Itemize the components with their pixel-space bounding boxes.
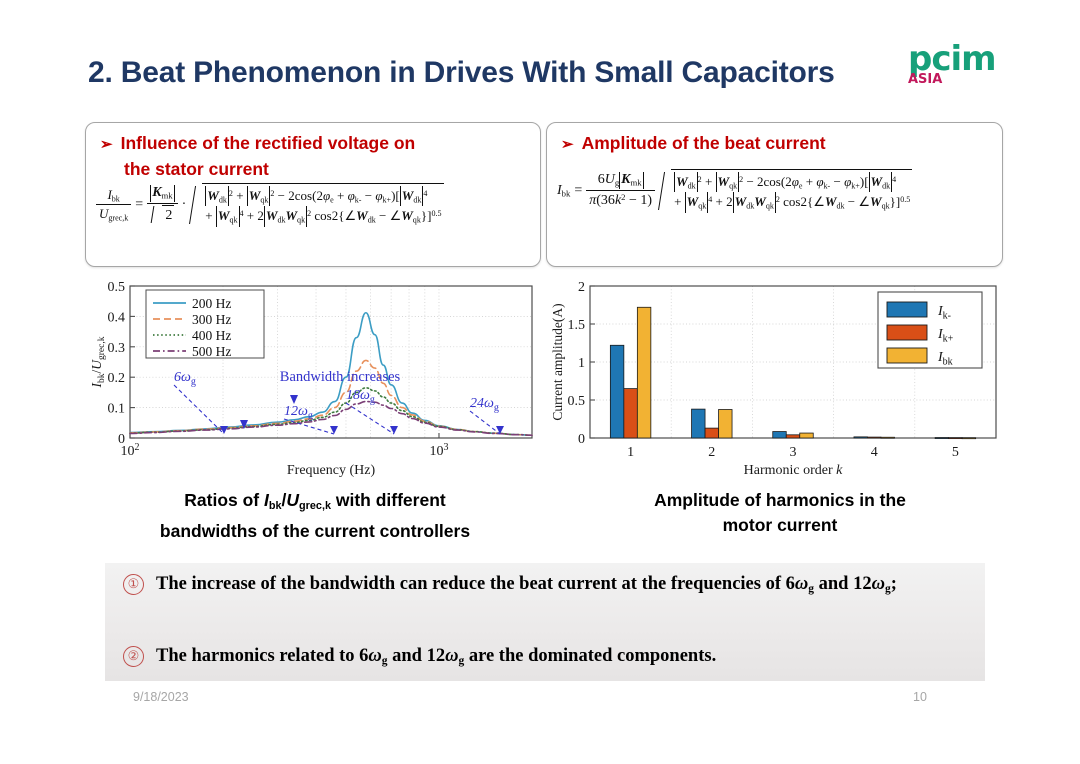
svg-text:1: 1 [627, 445, 634, 460]
svg-text:200 Hz: 200 Hz [192, 296, 231, 311]
logo-sub-text: ASIA [908, 72, 942, 87]
conclusion-item-2: ②The harmonics related to 6ωg and 12ωg a… [123, 641, 971, 676]
footer-page-number: 10 [913, 690, 927, 704]
chart-ratio-vs-frequency: 00.10.20.30.40.5102103Frequency (Hz)Ibk/… [88, 276, 538, 481]
svg-text:500 Hz: 500 Hz [192, 344, 231, 359]
title-row: 2. Beat Phenomenon in Drives With Small … [88, 52, 1008, 100]
svg-text:Harmonic order k: Harmonic order k [744, 463, 844, 478]
bar-chart-svg: 1234500.511.52Harmonic order kCurrent am… [548, 276, 1003, 481]
conclusion-item-1: ①The increase of the bandwidth can reduc… [123, 569, 971, 604]
arrow-bullet-icon: ➢ [561, 136, 574, 153]
formula-box-right-heading: ➢Amplitude of the beat current [561, 131, 994, 157]
svg-text:0.4: 0.4 [108, 310, 126, 325]
svg-text:Current amplitude(A): Current amplitude(A) [550, 303, 565, 420]
list-number-2: ② [123, 646, 144, 667]
svg-text:3: 3 [790, 445, 797, 460]
caption-left-line2: bandwidths of the current controllers [160, 521, 470, 541]
svg-text:18ωg: 18ωg [346, 388, 375, 406]
formula-left: Ibk Ugrec,k = Kmk 2 · Wdk2 + Wqk2 − 2cos… [96, 183, 534, 227]
conclusion-1-text: The increase of the bandwidth can reduce… [156, 574, 897, 594]
svg-text:0.5: 0.5 [568, 394, 586, 409]
svg-text:1.5: 1.5 [568, 318, 586, 333]
svg-text:2: 2 [578, 280, 585, 295]
pcim-asia-logo: pcim ASIA [896, 42, 1006, 98]
chart-harmonic-amplitudes: 1234500.511.52Harmonic order kCurrent am… [548, 276, 1003, 481]
formula-box-right: ➢Amplitude of the beat current Ibk = 6Ug… [546, 122, 1003, 267]
caption-right-line2: motor current [723, 515, 838, 535]
footer-date: 9/18/2023 [133, 690, 189, 704]
svg-text:Bandwidth increases: Bandwidth increases [280, 369, 401, 385]
svg-text:300 Hz: 300 Hz [192, 312, 231, 327]
svg-text:400 Hz: 400 Hz [192, 328, 231, 343]
svg-text:2: 2 [708, 445, 715, 460]
svg-text:Frequency (Hz): Frequency (Hz) [287, 463, 376, 478]
heading-line-2: the stator current [100, 159, 269, 179]
svg-text:24ωg: 24ωg [470, 396, 499, 414]
svg-text:102: 102 [121, 442, 140, 459]
svg-text:1: 1 [578, 356, 585, 371]
svg-text:0.2: 0.2 [108, 371, 126, 386]
svg-text:4: 4 [871, 445, 878, 460]
svg-text:Ibk/Ugrec,k: Ibk/Ugrec,k [89, 336, 107, 388]
caption-left-line1: Ratios of Ibk/Ugrec,k with different [184, 490, 445, 510]
slide-root: 2. Beat Phenomenon in Drives With Small … [0, 0, 1080, 764]
arrow-bullet-icon: ➢ [100, 136, 113, 153]
caption-right-chart: Amplitude of harmonics in the motor curr… [560, 488, 1000, 538]
formula-box-left: ➢Influence of the rectified voltage on t… [85, 122, 541, 267]
svg-text:0.3: 0.3 [108, 341, 126, 356]
conclusions-box: ①The increase of the bandwidth can reduc… [105, 563, 985, 681]
conclusion-2-text: The harmonics related to 6ωg and 12ωg ar… [156, 646, 716, 666]
svg-text:0: 0 [578, 432, 585, 447]
formula-box-left-heading: ➢Influence of the rectified voltage on t… [100, 131, 532, 182]
page-title: 2. Beat Phenomenon in Drives With Small … [88, 56, 835, 90]
heading-line-1: Influence of the rectified voltage on [121, 133, 416, 153]
svg-text:5: 5 [952, 445, 959, 460]
svg-text:0.5: 0.5 [108, 280, 126, 295]
heading-line-1: Amplitude of the beat current [582, 133, 826, 153]
logo-main-text: pcim [908, 42, 996, 76]
caption-right-line1: Amplitude of harmonics in the [654, 490, 906, 510]
svg-text:12ωg: 12ωg [284, 404, 313, 422]
svg-text:0.1: 0.1 [108, 402, 126, 417]
line-chart-svg: 00.10.20.30.40.5102103Frequency (Hz)Ibk/… [88, 276, 538, 481]
list-number-1: ① [123, 574, 144, 595]
svg-text:6ωg: 6ωg [174, 370, 196, 388]
svg-text:103: 103 [429, 442, 448, 459]
caption-left-chart: Ratios of Ibk/Ugrec,k with different ban… [95, 488, 535, 544]
formula-right: Ibk = 6UgKmk π(36k2 − 1) Wdk2 + Wqk2 − 2… [557, 169, 996, 213]
